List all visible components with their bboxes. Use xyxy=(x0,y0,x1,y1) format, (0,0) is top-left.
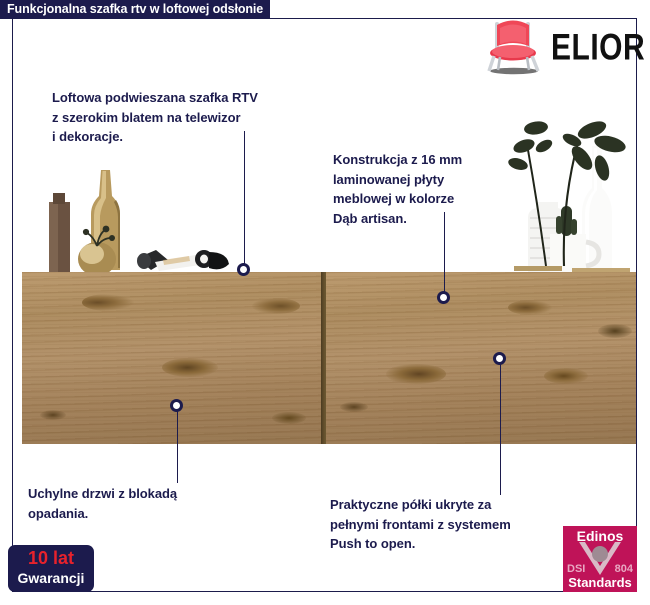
cabinet-left-door xyxy=(22,272,321,444)
callout-leader-3 xyxy=(177,411,179,483)
callout-text-top-right: Konstrukcja z 16 mm laminowanej płyty me… xyxy=(333,150,573,228)
cabinet-right-door xyxy=(326,272,636,444)
brand-logo: ELIOR xyxy=(483,16,643,78)
edinos-number-code: 804 xyxy=(615,563,633,575)
decor-left-objects xyxy=(31,162,231,274)
edinos-standards-label: Standards xyxy=(563,575,637,590)
callout-text-bottom-left: Uchylne drzwi z blokadą opadania. xyxy=(28,484,328,523)
warranty-years: 10 lat xyxy=(8,545,94,569)
edinos-dsi-code: DSI xyxy=(567,563,585,575)
callout-text-top-left: Loftowa podwieszana szafka RTV z szeroki… xyxy=(52,88,332,147)
red-chair-icon xyxy=(483,16,545,76)
warranty-label: Gwarancji xyxy=(8,569,94,587)
brand-name: ELIOR xyxy=(551,28,645,69)
edinos-certificate-badge: Edinos DSI 804 Standards xyxy=(563,526,637,592)
warranty-badge: 10 lat Gwarancji xyxy=(8,545,94,592)
page-title: Funkcjonalna szafka rtv w loftowej odsło… xyxy=(0,0,270,19)
callout-leader-4 xyxy=(500,364,502,495)
infographic-canvas: Funkcjonalna szafka rtv w loftowej odsło… xyxy=(0,0,650,605)
callout-marker-3[interactable] xyxy=(170,399,183,412)
callout-marker-2[interactable] xyxy=(437,291,450,304)
callout-marker-4[interactable] xyxy=(493,352,506,365)
callout-leader-1 xyxy=(244,131,246,265)
callout-marker-1[interactable] xyxy=(237,263,250,276)
